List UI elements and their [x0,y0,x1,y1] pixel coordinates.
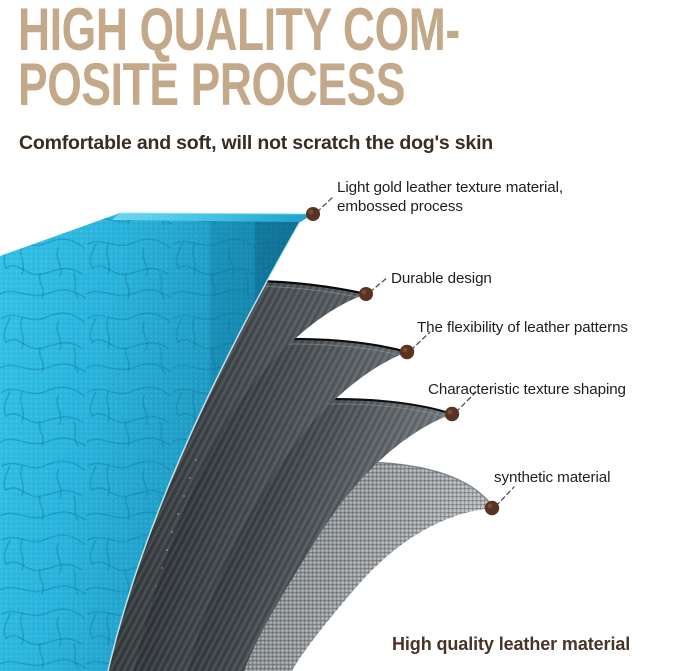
leader-line-1 [317,196,334,212]
footnote-caption: High quality leather material [392,634,630,655]
callout-dot-2[interactable] [359,287,373,301]
callout-dot-1[interactable] [306,207,320,221]
page-subtitle: Comfortable and soft, will not scratch t… [19,132,493,155]
callout-label-synthetic-material: synthetic material [494,468,610,487]
page-title: HIGH QUALITY COM- POSITE PROCESS [18,2,492,112]
leader-line-2 [370,277,388,292]
infographic-page: HIGH QUALITY COM- POSITE PROCESS Comfort… [0,0,679,671]
callout-label-light-gold-leather: Light gold leather texture material, emb… [337,178,563,217]
callout-label-texture-shaping: Characteristic texture shaping [428,380,626,399]
callout-label-durable-design: Durable design [391,269,492,288]
product-layers-illustration [0,160,679,671]
callout-label-leather-flexibility: The flexibility of leather patterns [417,318,628,337]
leader-line-5 [496,487,514,506]
callout-dot-3[interactable] [400,345,414,359]
callout-dot-5[interactable] [485,501,499,515]
callout-dot-4[interactable] [445,407,459,421]
